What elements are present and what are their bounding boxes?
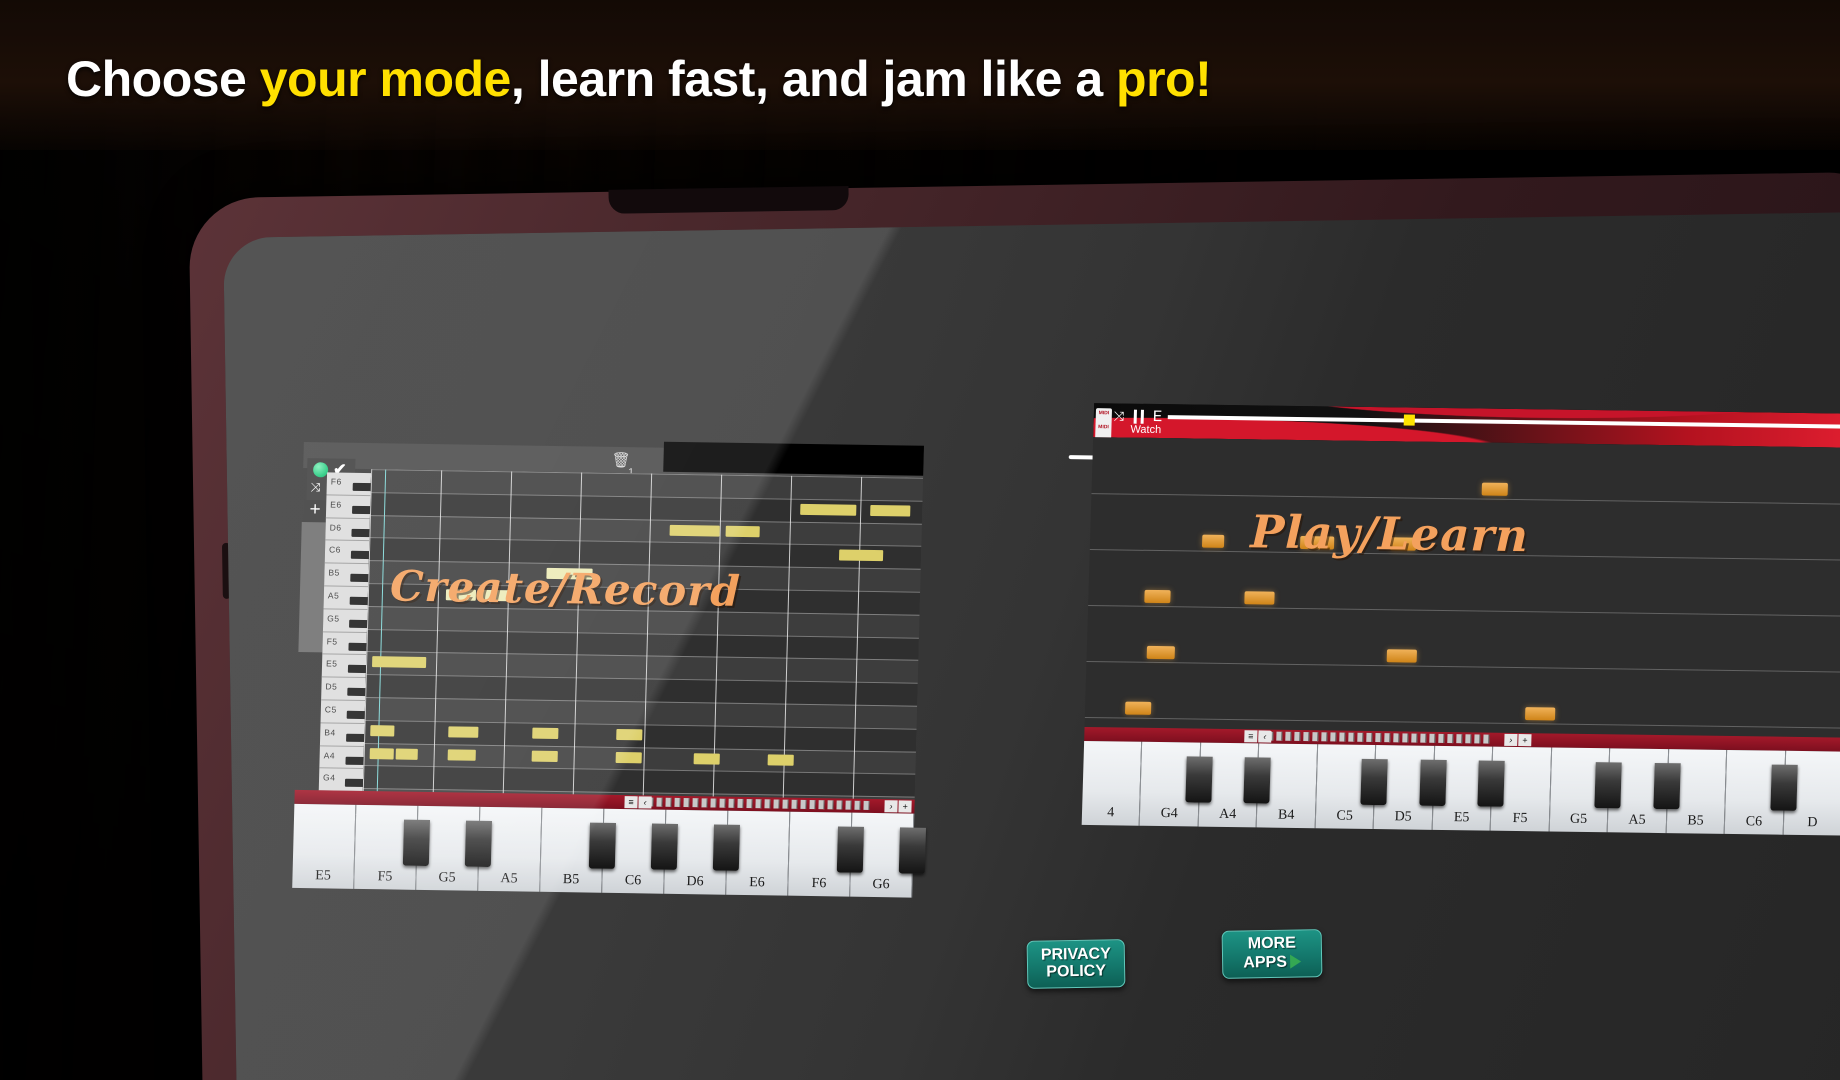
mini-keyboard-key[interactable]: [1294, 732, 1300, 741]
mini-keyboard-key[interactable]: [1285, 732, 1291, 741]
mini-keyboard-key[interactable]: [683, 798, 689, 807]
keyboard-control-button[interactable]: +: [1518, 734, 1531, 746]
mini-keyboard-key[interactable]: [818, 800, 824, 809]
scrollbar-vertical[interactable]: [298, 522, 325, 652]
keyboard-control-button[interactable]: ≡: [1244, 730, 1257, 742]
piano-key-label: F6: [788, 876, 849, 893]
piano-white-key[interactable]: G4: [1140, 742, 1201, 827]
mini-keyboard-key[interactable]: [800, 800, 806, 809]
falling-note[interactable]: [1482, 483, 1508, 496]
piano-roll-note[interactable]: [870, 505, 910, 517]
piano-key-label: E6: [726, 875, 787, 892]
piano-key-label: A4: [1199, 807, 1257, 824]
mini-keyboard-key[interactable]: [701, 798, 707, 807]
piano-roll-note[interactable]: [694, 753, 720, 764]
mini-keyboard-key[interactable]: [1330, 732, 1336, 741]
mini-keyboard-key[interactable]: [782, 800, 788, 809]
piano-roll-key-row[interactable]: A5: [324, 586, 369, 609]
mini-keyboard-key[interactable]: [755, 799, 761, 808]
piano-black-key[interactable]: [589, 823, 616, 869]
piano-roll-key-label: E6: [330, 499, 342, 509]
piano-roll-key-label: A5: [328, 590, 340, 600]
falling-note[interactable]: [1387, 649, 1417, 662]
pause-icon-bar-left[interactable]: [1134, 410, 1137, 424]
more-apps-label: APPS: [1243, 954, 1287, 972]
piano-key-label: G6: [850, 877, 911, 894]
mini-keyboard-key[interactable]: [827, 800, 833, 809]
headline-part-2: , learn fast, and jam like a: [511, 51, 1116, 107]
piano-roll-note[interactable]: [839, 550, 883, 562]
create-record-titlebar: ×: [663, 442, 924, 476]
piano-white-key[interactable]: C5: [1316, 744, 1377, 829]
piano-black-key[interactable]: [1595, 762, 1622, 808]
headline-highlight-1: your mode: [260, 51, 511, 107]
mini-keyboard-key[interactable]: [854, 801, 860, 810]
piano-roll-key-label: D5: [325, 682, 337, 692]
mini-keyboard-key[interactable]: [728, 799, 734, 808]
piano-roll-note[interactable]: [616, 729, 642, 740]
piano-key-label: C5: [1316, 808, 1374, 825]
piano-key-label: B4: [1257, 807, 1315, 824]
piano-key-label: D6: [664, 874, 725, 891]
piano-black-key[interactable]: [899, 827, 926, 873]
mini-keyboard-key[interactable]: [1357, 733, 1363, 742]
add-track-button[interactable]: +: [304, 500, 327, 522]
piano-black-key[interactable]: [403, 820, 430, 866]
falling-note[interactable]: [1147, 646, 1175, 659]
falling-note[interactable]: [1144, 590, 1170, 603]
privacy-policy-line-2: POLICY: [1041, 963, 1111, 981]
mini-keyboard-key[interactable]: [845, 801, 851, 810]
piano-black-key[interactable]: [1185, 756, 1212, 802]
piano-white-key[interactable]: 4: [1082, 741, 1143, 826]
piano-roll-key-row[interactable]: F6: [326, 472, 371, 495]
piano-roll-key-row[interactable]: F5: [322, 632, 367, 655]
mini-keyboard-key[interactable]: [1474, 734, 1480, 743]
phone-device: 🗑 1 × ✔ ⤨ + F6E6D6C6B5A5G5F5E5D5C5B4A4G4…: [189, 172, 1840, 1080]
mini-keyboard-key[interactable]: [1465, 734, 1471, 743]
mini-keyboard-key[interactable]: [665, 798, 671, 807]
piano-roll-key-row[interactable]: D5: [321, 678, 366, 701]
piano-roll-key-row[interactable]: B4: [320, 723, 365, 746]
piano-black-key[interactable]: [1419, 760, 1446, 806]
pause-icon-bar-right[interactable]: [1141, 410, 1144, 424]
keyboard-control-button[interactable]: ≡: [624, 796, 637, 808]
piano-black-key[interactable]: [713, 825, 740, 871]
mini-keyboard-key[interactable]: [737, 799, 743, 808]
piano-key-label: 4: [1082, 805, 1140, 822]
piano-roll-key-label: C5: [325, 704, 337, 714]
piano-roll-note[interactable]: [532, 727, 558, 738]
privacy-policy-button[interactable]: PRIVACY POLICY: [1027, 939, 1126, 989]
piano-roll-note[interactable]: [670, 524, 720, 536]
play-learn-overlay-label: Play/Learn: [1250, 505, 1530, 562]
midi-file-icon-secondary[interactable]: MIDI: [1095, 422, 1112, 439]
keyboard-control-button[interactable]: ›: [1504, 734, 1517, 746]
play-learn-panel: MIDI MIDI ⤨ E Watch Play/Learn ≡‹›+ 4G4A…: [1083, 403, 1840, 773]
mini-keyboard-key[interactable]: [1384, 733, 1390, 742]
mini-keyboard-key[interactable]: [1393, 733, 1399, 742]
mini-keyboard-key[interactable]: [746, 799, 752, 808]
mini-keyboard-key[interactable]: [710, 798, 716, 807]
piano-black-key[interactable]: [1770, 765, 1797, 811]
falling-note[interactable]: [1244, 591, 1274, 604]
piano-roll-note[interactable]: [370, 748, 394, 759]
playback-slider-knob[interactable]: [1404, 414, 1415, 425]
piano-roll-key-label: A4: [324, 750, 336, 760]
piano-black-key[interactable]: [465, 821, 492, 867]
piano-roll-key-row[interactable]: B5: [324, 564, 369, 587]
mini-keyboard-key[interactable]: [719, 799, 725, 808]
more-apps-line-2: APPS: [1243, 952, 1301, 972]
mini-keyboard-key[interactable]: [1456, 734, 1462, 743]
mini-keyboard-key[interactable]: [1348, 733, 1354, 742]
mini-keyboard-key[interactable]: [1429, 734, 1435, 743]
mini-keyboard-key[interactable]: [1438, 734, 1444, 743]
mini-keyboard-key[interactable]: [1420, 734, 1426, 743]
mini-keyboard-key[interactable]: [764, 799, 770, 808]
more-apps-button[interactable]: MORE APPS: [1222, 929, 1323, 979]
piano-roll-key-row[interactable]: C6: [325, 541, 370, 564]
piano-black-key[interactable]: [1478, 760, 1505, 806]
headline-highlight-2: pro: [1116, 51, 1195, 107]
mini-keyboard-key[interactable]: [1339, 733, 1345, 742]
piano-key-label: B5: [540, 872, 601, 889]
piano-roll-key-label: B5: [328, 568, 340, 578]
piano-key-label: A5: [478, 871, 539, 888]
mini-keyboard-key[interactable]: [674, 798, 680, 807]
piano-roll-key-row[interactable]: D6: [325, 518, 370, 541]
piano-roll-key-label: F6: [331, 476, 342, 486]
piano-black-key[interactable]: [651, 824, 678, 870]
piano-key-label: D5: [1374, 809, 1432, 826]
piano-roll-note[interactable]: [372, 657, 426, 669]
piano-roll-note[interactable]: [800, 504, 856, 516]
piano-roll-grid[interactable]: [363, 469, 923, 802]
piano-roll-note[interactable]: [726, 525, 760, 537]
lane-line: [1091, 493, 1840, 505]
piano-roll-key-row[interactable]: A4: [319, 746, 364, 769]
piano-roll-key-label: G4: [323, 773, 336, 783]
lane-line: [1086, 661, 1840, 673]
watch-label[interactable]: Watch: [1130, 424, 1161, 436]
mini-keyboard-key[interactable]: [863, 801, 869, 810]
falling-note[interactable]: [1525, 707, 1555, 720]
piano-roll-note[interactable]: [532, 750, 558, 761]
mini-keyboard-key[interactable]: [1303, 732, 1309, 741]
piano-black-key[interactable]: [837, 826, 864, 872]
piano-roll-key-row[interactable]: E5: [322, 655, 367, 678]
shuffle-icon[interactable]: ⤨: [1114, 408, 1125, 424]
piano-black-key[interactable]: [1653, 763, 1680, 809]
piano-roll-note[interactable]: [396, 748, 418, 759]
piano-key-label: C6: [602, 873, 663, 890]
piano-key-label: G5: [1550, 811, 1608, 828]
piano-roll-key-label: E5: [326, 659, 338, 669]
piano-roll-key-row[interactable]: G4: [319, 769, 364, 792]
piano-key-label: G4: [1140, 806, 1198, 823]
mini-keyboard-key[interactable]: [1375, 733, 1381, 742]
piano-roll-key-row[interactable]: E6: [326, 495, 371, 518]
falling-notes-area[interactable]: [1085, 437, 1840, 737]
shuffle-icon[interactable]: ⤨: [310, 480, 320, 495]
piano-key-label: B5: [1666, 813, 1724, 830]
create-record-panel: 🗑 1 × ✔ ⤨ + F6E6D6C6B5A5G5F5E5D5C5B4A4G4…: [295, 442, 924, 802]
mini-keyboard-key[interactable]: [809, 800, 815, 809]
mini-keyboard-key[interactable]: [1447, 734, 1453, 743]
lane-line: [1085, 717, 1840, 729]
mini-keyboard-key[interactable]: [836, 800, 842, 809]
piano-roll-note[interactable]: [448, 726, 478, 737]
headline-part-1: Choose: [66, 51, 260, 107]
white-keys[interactable]: E5F5G5A5B5C6D6E6F6G6: [292, 804, 914, 898]
mini-keyboard-key[interactable]: [656, 798, 662, 807]
piano-roll-note[interactable]: [370, 725, 394, 736]
piano-key-label: C6: [1725, 814, 1783, 831]
keyboard-control-button[interactable]: ‹: [638, 796, 651, 808]
piano-roll-note[interactable]: [768, 754, 794, 765]
piano-key-label: D: [1783, 815, 1840, 832]
mini-keyboard-key[interactable]: [1321, 732, 1327, 741]
piano-roll-key-label: D6: [330, 522, 342, 532]
keyboard-control-button[interactable]: ›: [884, 800, 897, 812]
piano-white-key[interactable]: F6: [788, 812, 852, 897]
keyboard-control-button[interactable]: +: [898, 800, 911, 812]
mini-keyboard-key[interactable]: [1411, 734, 1417, 743]
piano-roll-key-label: C6: [329, 545, 341, 555]
page-title: Choose your mode, learn fast, and jam li…: [66, 50, 1466, 108]
piano-roll-key-label: F5: [327, 636, 338, 646]
white-keys[interactable]: 4G4A4B4C5D5E5F5G5A5B5C6D: [1082, 741, 1840, 836]
piano-key-label: G5: [416, 870, 477, 887]
mini-keyboard-key[interactable]: [1483, 735, 1489, 744]
piano-key-label: F5: [1491, 811, 1549, 828]
keyboard-control-button[interactable]: ‹: [1258, 730, 1271, 742]
piano-roll-note[interactable]: [616, 752, 642, 763]
mini-keyboard-key[interactable]: [692, 798, 698, 807]
lane-line: [1088, 605, 1840, 617]
piano-white-key[interactable]: B5: [540, 808, 604, 893]
falling-note[interactable]: [1125, 702, 1151, 715]
piano-roll-key-label: B4: [324, 727, 336, 737]
piano-roll-note[interactable]: [448, 749, 476, 760]
more-apps-line-1: MORE: [1243, 936, 1301, 954]
mini-keyboard-key[interactable]: [1312, 732, 1318, 741]
headline-part-3: !: [1195, 51, 1211, 107]
piano-white-key[interactable]: C6: [1725, 750, 1786, 835]
google-play-icon: [1290, 954, 1301, 968]
piano-black-key[interactable]: [1361, 759, 1388, 805]
phone-notch: [608, 186, 848, 214]
create-record-overlay-label: Create/Record: [389, 561, 741, 615]
piano-key-label: F5: [354, 869, 415, 886]
piano-roll-key-row[interactable]: G5: [323, 609, 368, 632]
mini-keyboard-key[interactable]: [1276, 732, 1282, 741]
piano-key-label: A5: [1608, 812, 1666, 829]
mini-keyboard-key[interactable]: [1402, 733, 1408, 742]
mini-keyboard-key[interactable]: [1366, 733, 1372, 742]
mini-keyboard-key[interactable]: [773, 799, 779, 808]
piano-black-key[interactable]: [1244, 757, 1271, 803]
piano-roll-key-row[interactable]: C5: [321, 700, 366, 723]
mini-keyboard-key[interactable]: [791, 800, 797, 809]
piano-white-key[interactable]: E5: [292, 804, 356, 889]
piano-key-label: E5: [1433, 810, 1491, 827]
piano-key-label: E5: [292, 868, 353, 885]
piano-roll-key-label: G5: [327, 613, 340, 623]
piano-white-key[interactable]: G5: [1549, 748, 1610, 833]
falling-note[interactable]: [1202, 535, 1224, 548]
piano-white-key[interactable]: F5: [354, 805, 418, 890]
